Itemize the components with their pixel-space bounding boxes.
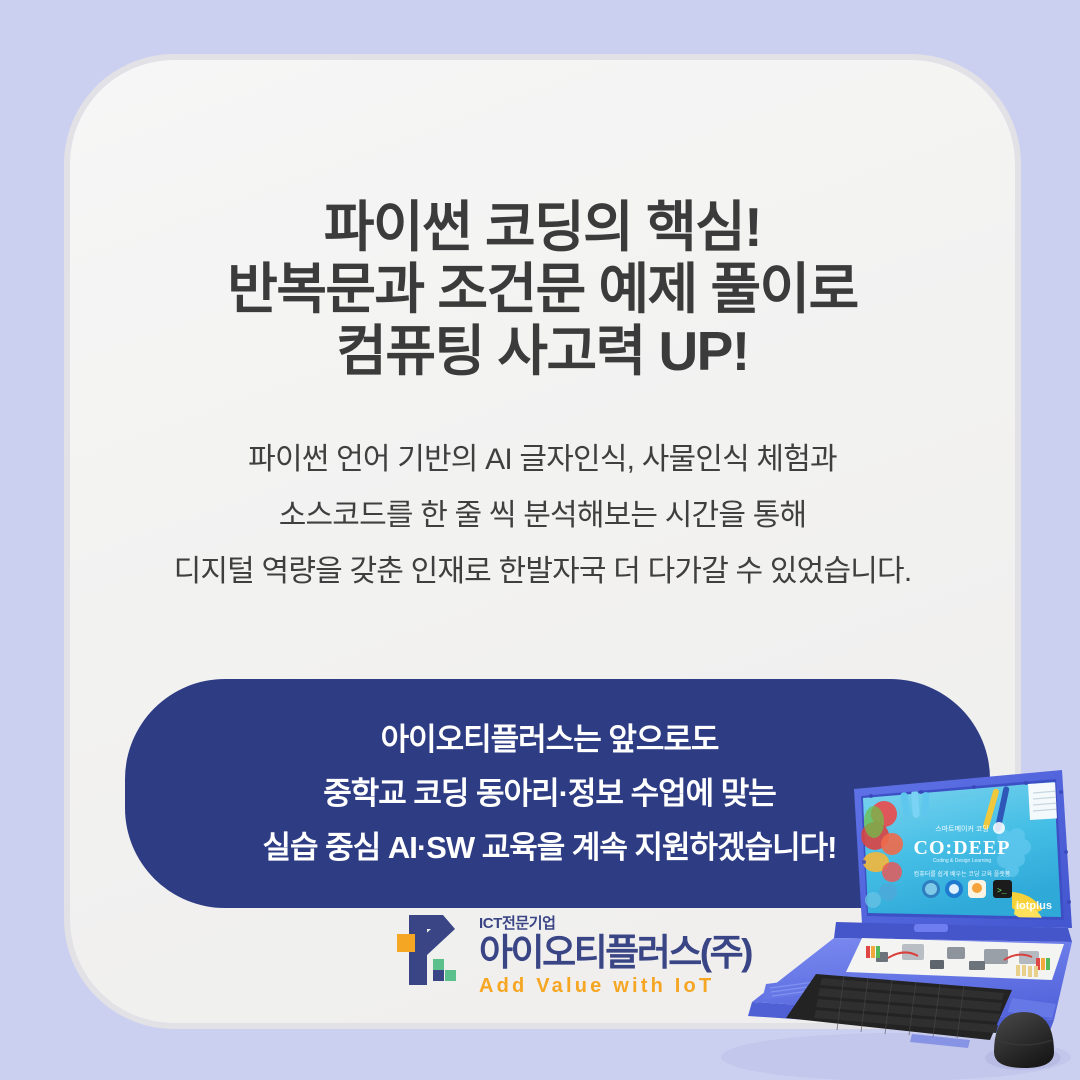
page-title: 파이썬 코딩의 핵심! 반복문과 조건문 예제 풀이로 컴퓨팅 사고력 UP!	[70, 196, 1015, 382]
svg-text:iotplus: iotplus	[1016, 900, 1052, 912]
callout-text: 아이오티플러스는 앞으로도 중학교 코딩 동아리·정보 수업에 맞는 실습 중심…	[263, 713, 853, 875]
logo-company-name: 아이오티플러스(주)	[479, 933, 751, 973]
logo-tagline: Add Value with IoT	[479, 974, 751, 998]
body-paragraph: 파이썬 언어 기반의 AI 글자인식, 사물인식 체험과 소스코드를 한 줄 씩…	[70, 432, 1015, 600]
company-logo: ICT전문기업 아이오티플러스(주) Add Value with IoT	[397, 913, 751, 998]
iotplus-p-mark-icon	[397, 913, 465, 987]
callout-banner: 아이오티플러스는 앞으로도 중학교 코딩 동아리·정보 수업에 맞는 실습 중심…	[125, 679, 990, 908]
logo-eyebrow: ICT전문기업	[479, 915, 751, 932]
poster-canvas: 파이썬 코딩의 핵심! 반복문과 조건문 예제 풀이로 컴퓨팅 사고력 UP! …	[0, 0, 1080, 1080]
logo-wordmark: ICT전문기업 아이오티플러스(주) Add Value with IoT	[479, 913, 751, 998]
